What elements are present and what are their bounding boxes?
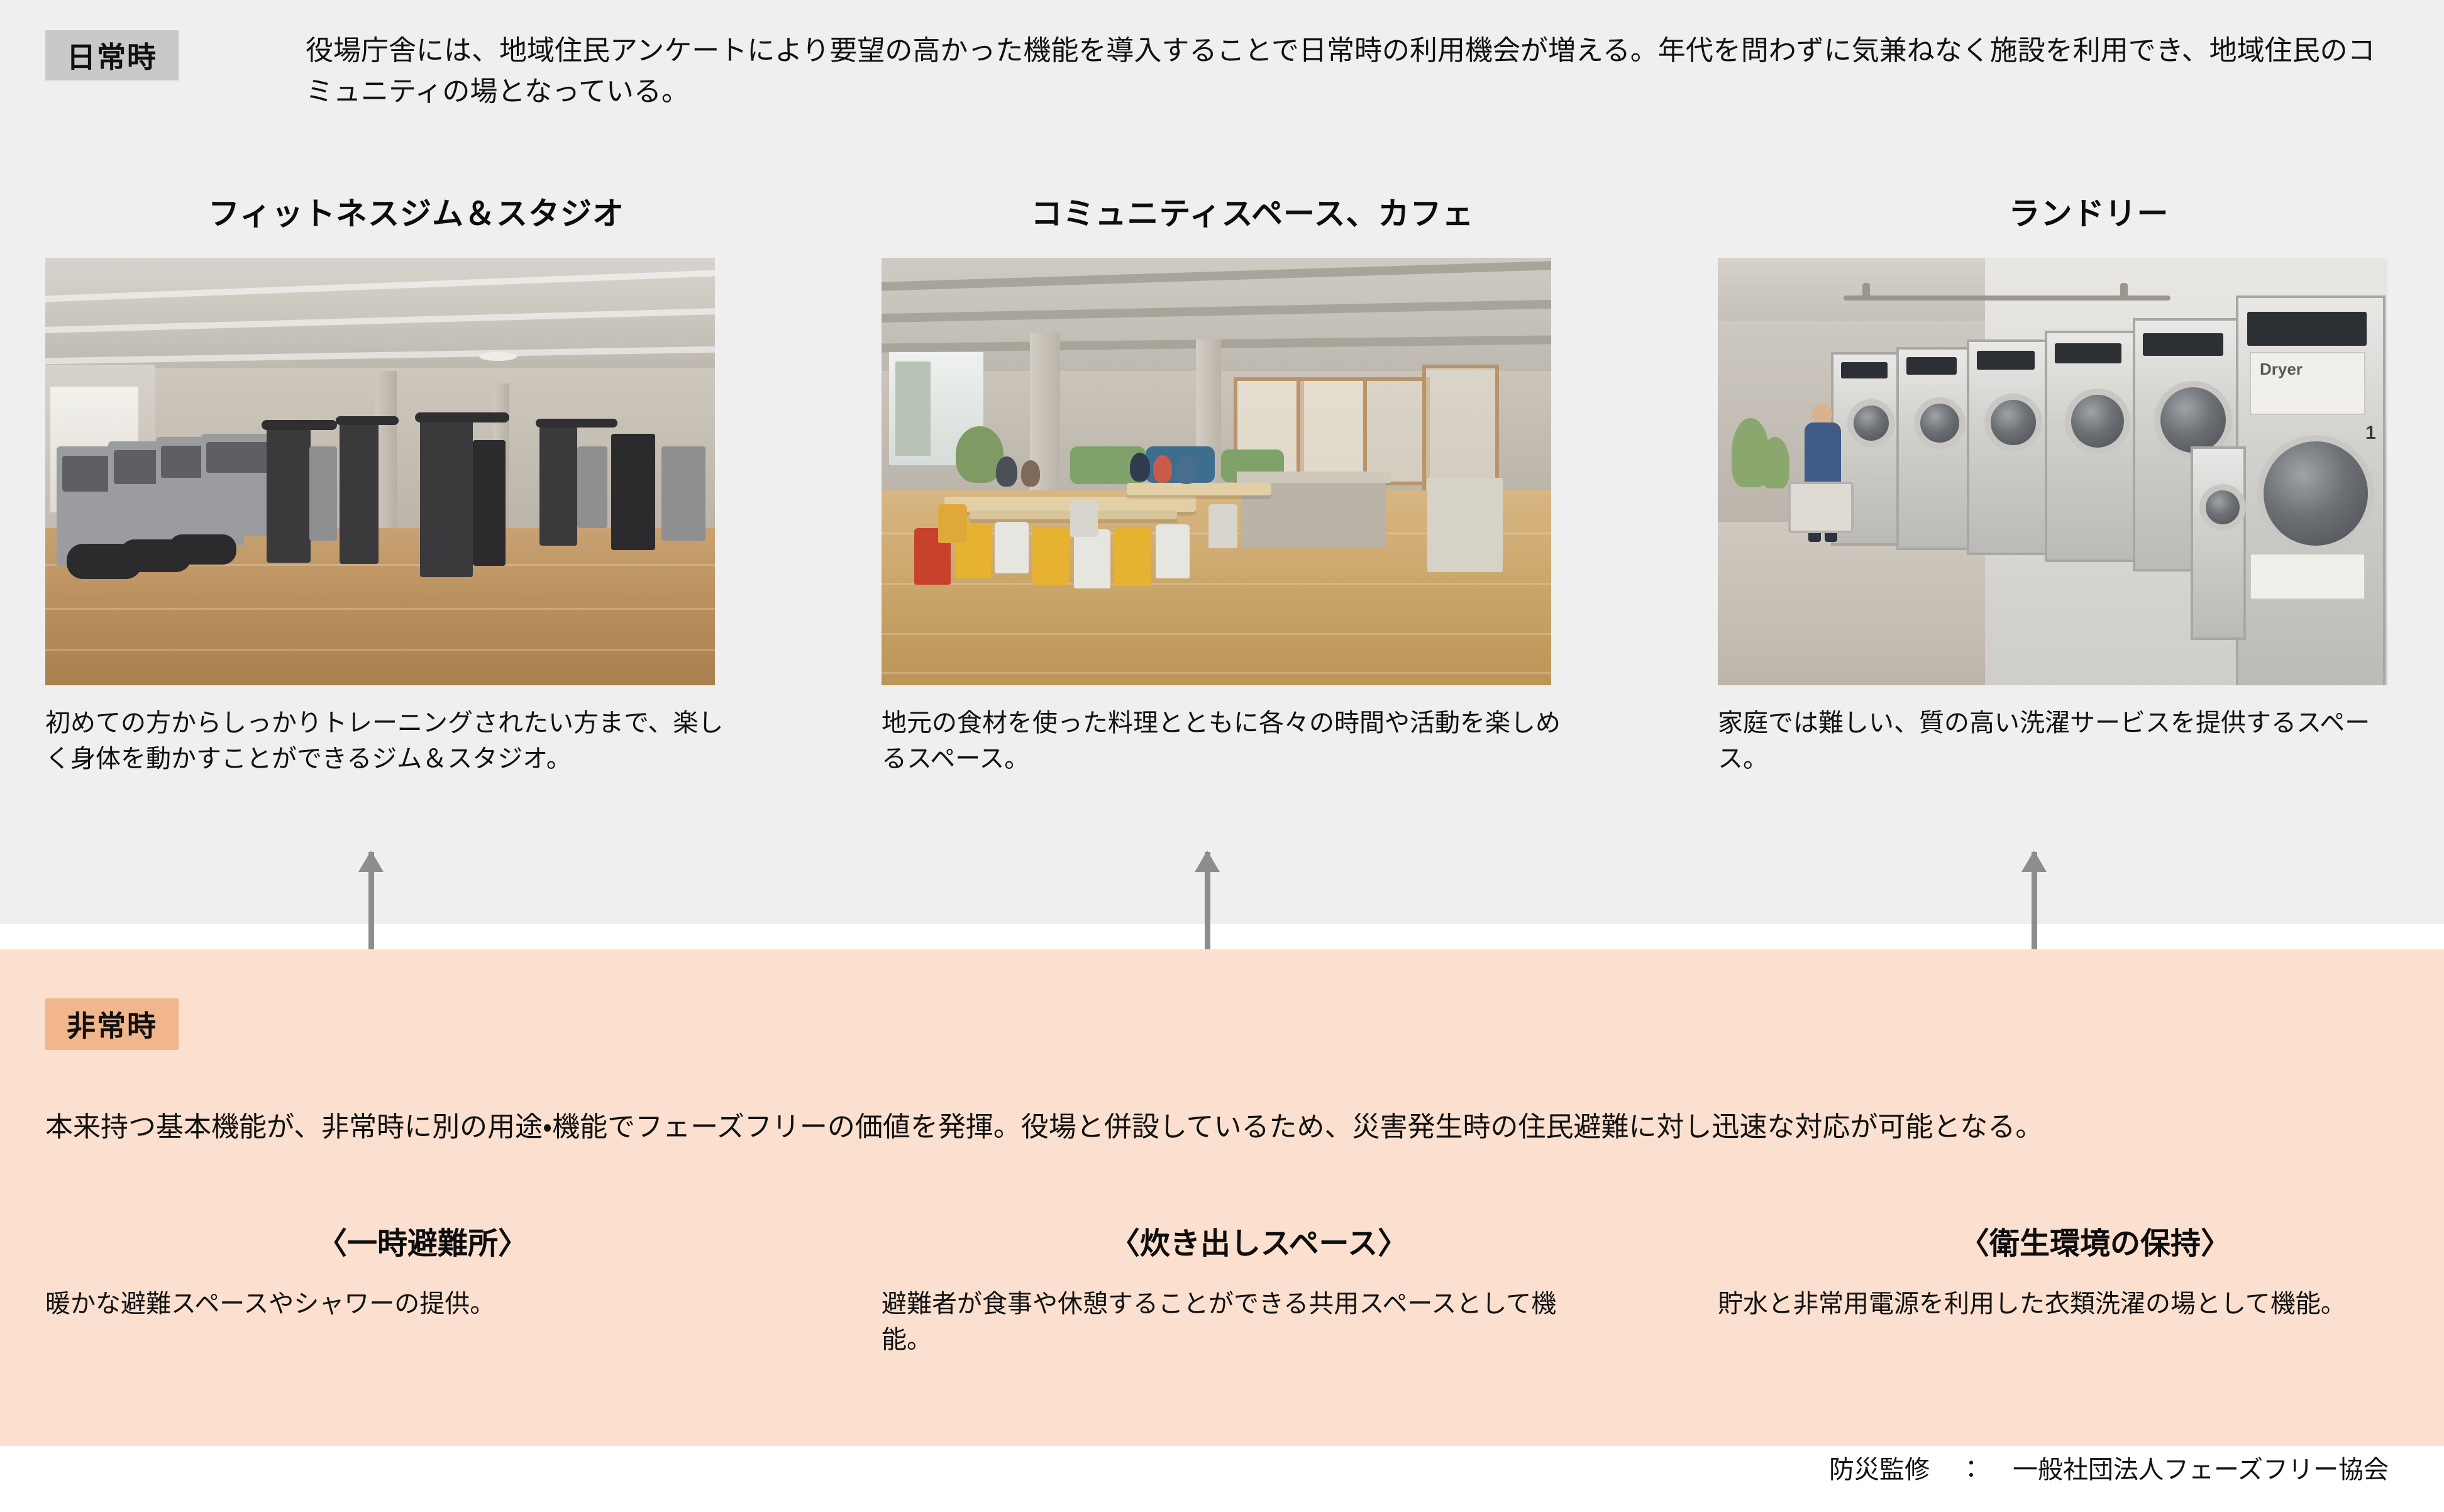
normal-phase-section: 日常時 役場庁舎には、地域住民アンケートにより要望の高かった機能を導入することで…	[0, 0, 2444, 924]
normal-column-title: ランドリー	[1718, 189, 2444, 239]
machine-number-1: 1	[2365, 422, 2376, 444]
emergency-column-title: 〈一時避難所〉	[45, 1220, 800, 1269]
normal-column-caption: 地元の食材を使った料理とともに各々の時間や活動を楽しめるスペース。	[882, 705, 1567, 777]
emergency-phase-section	[0, 949, 2444, 1446]
normal-column-caption: 初めての方からしっかりトレーニングされたい方まで、楽しく身体を動かすことができる…	[45, 705, 731, 777]
emergency-phase-badge: 非常時	[45, 998, 179, 1050]
emergency-column-title: 〈炊き出しスペース〉	[882, 1220, 1636, 1269]
community-space-cafe-photo	[882, 258, 1551, 685]
emergency-column-description: 貯水と非常用電源を利用した衣類洗濯の場として機能。	[1718, 1286, 2422, 1322]
normal-column-laundry: ランドリー	[1718, 189, 2444, 777]
normal-phase-intro-text: 役場庁舎には、地域住民アンケートにより要望の高かった機能を導入することで日常時の…	[306, 30, 2399, 112]
normal-column-caption: 家庭では難しい、質の高い洗濯サービスを提供するスペース。	[1718, 705, 2416, 777]
dryer-label-text: Dryer	[2260, 360, 2303, 379]
laundry-photo: 3 Dryer 1	[1718, 258, 2387, 685]
emergency-column-description: 暖かな避難スペースやシャワーの提供。	[45, 1286, 749, 1322]
emergency-column-hygiene: 〈衛生環境の保持〉 貯水と非常用電源を利用した衣類洗濯の場として機能。	[1718, 1220, 2444, 1322]
emergency-column-soup-kitchen: 〈炊き出しスペース〉 避難者が食事や休憩することができる共用スペースとして機能。	[882, 1220, 1636, 1358]
supervision-credit: 防災監修：一般社団法人フェーズフリー協会	[1829, 1449, 2389, 1486]
emergency-column-description: 避難者が食事や休憩することができる共用スペースとして機能。	[882, 1286, 1586, 1358]
normal-column-title: コミュニティスペース、カフェ	[882, 189, 1623, 239]
normal-column-community: コミュニティスペース、カフェ	[882, 189, 1623, 777]
normal-phase-badge: 日常時	[45, 30, 179, 80]
supervision-colon: ：	[1959, 1456, 1984, 1484]
supervision-organization: 一般社団法人フェーズフリー協会	[2013, 1456, 2389, 1484]
normal-column-title: フィットネスジム＆スタジオ	[45, 189, 787, 239]
emergency-column-title: 〈衛生環境の保持〉	[1718, 1220, 2444, 1269]
emergency-column-shelter: 〈一時避難所〉 暖かな避難スペースやシャワーの提供。	[45, 1220, 800, 1322]
emergency-phase-intro-text: 本来持つ基本機能が、非常時に別の用途・機能でフェーズフリーの価値を発揮。役場と併…	[45, 1106, 2409, 1149]
supervision-label: 防災監修	[1829, 1456, 1930, 1484]
fitness-gym-photo	[45, 258, 715, 685]
normal-column-fitness: フィットネスジム＆スタジオ	[45, 189, 787, 777]
